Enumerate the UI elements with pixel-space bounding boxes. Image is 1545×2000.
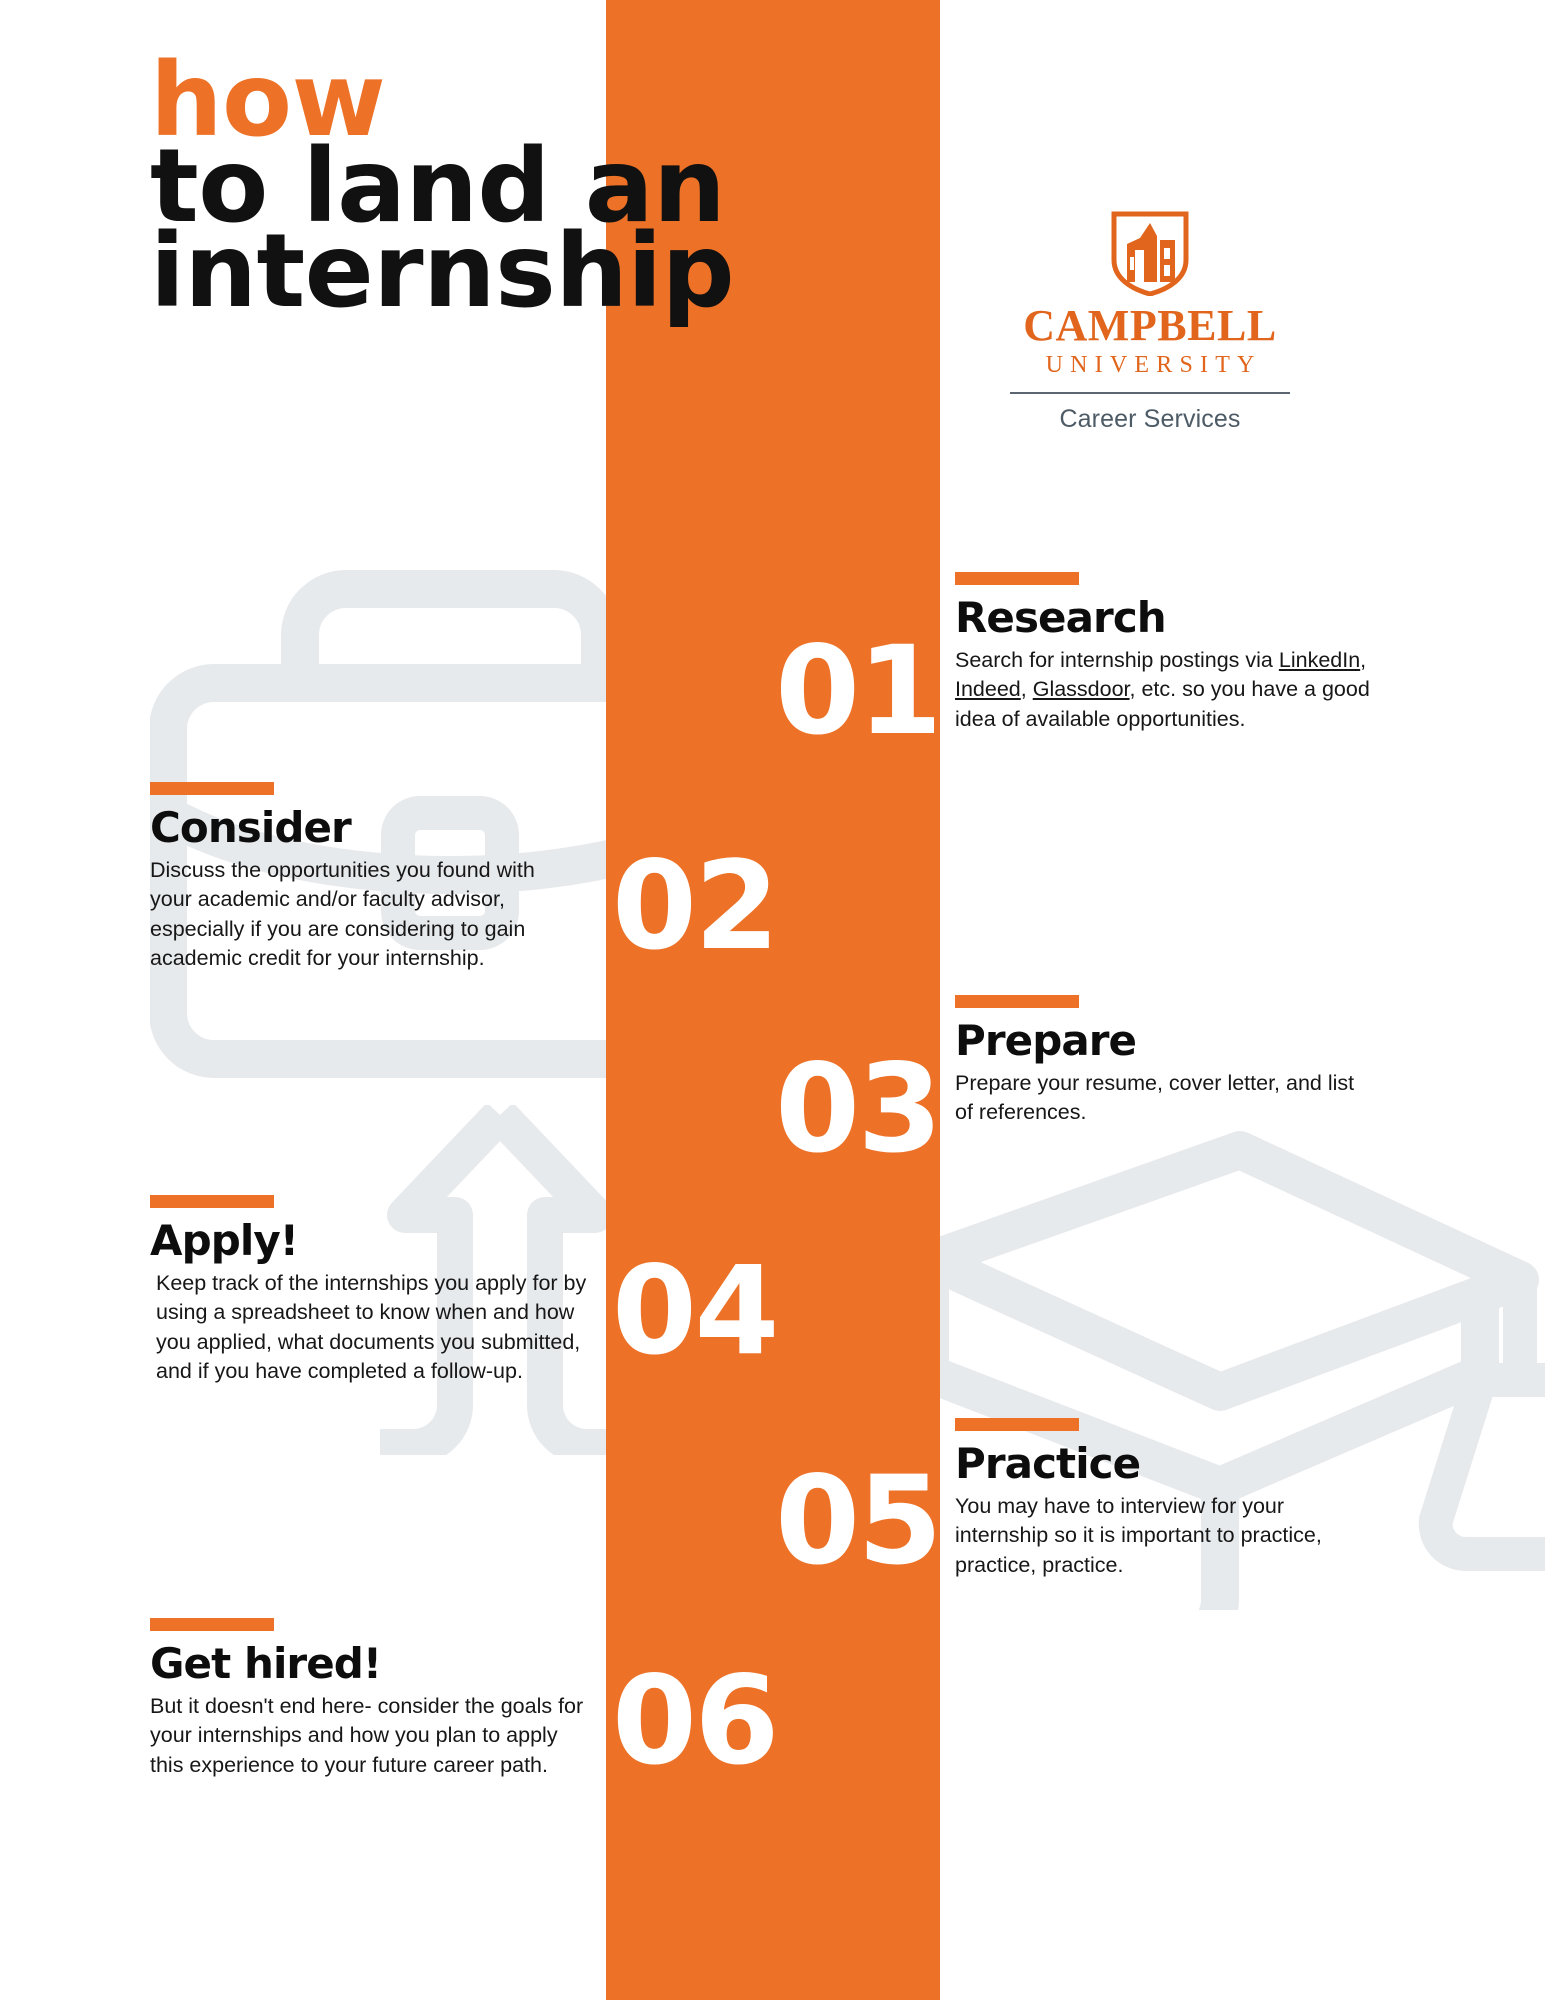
step-accent-rule-05 bbox=[955, 1418, 1079, 1431]
step-accent-rule-03 bbox=[955, 995, 1079, 1008]
step-body-research: Search for internship postings via Linke… bbox=[955, 646, 1375, 734]
step-number-03: 03 bbox=[620, 1048, 940, 1170]
step-body-get-hired: But it doesn't end here- consider the go… bbox=[150, 1692, 590, 1780]
step-title-research: Research bbox=[955, 596, 1375, 640]
step-body-prepare: Prepare your resume, cover letter, and l… bbox=[955, 1069, 1367, 1128]
page-title: how to land an internship bbox=[150, 58, 734, 315]
step-body-consider: Discuss the opportunities you found with… bbox=[150, 856, 582, 974]
step-card-research: Research Search for internship postings … bbox=[955, 572, 1375, 734]
step-title-apply: Apply! bbox=[150, 1219, 592, 1263]
link-glassdoor[interactable]: Glassdoor bbox=[1033, 677, 1130, 701]
title-line-internship: internship bbox=[150, 229, 734, 315]
link-linkedin[interactable]: LinkedIn bbox=[1279, 648, 1360, 672]
step-number-02: 02 bbox=[612, 845, 932, 967]
step-body-apply: Keep track of the internships you apply … bbox=[150, 1269, 592, 1387]
infographic-poster: how to land an internship CAMPBELL UNIVE… bbox=[0, 0, 1545, 2000]
step-title-practice: Practice bbox=[955, 1442, 1375, 1486]
logo-campbell-text: CAMPBELL bbox=[1000, 304, 1300, 348]
step-card-practice: Practice You may have to interview for y… bbox=[955, 1418, 1375, 1580]
step-card-apply: Apply! Keep track of the internships you… bbox=[150, 1195, 592, 1386]
campbell-shield-icon bbox=[1111, 210, 1189, 296]
step-body-prefix-research: Search for internship postings via bbox=[955, 648, 1279, 672]
logo-university-text: UNIVERSITY bbox=[1000, 352, 1300, 379]
logo-divider bbox=[1010, 392, 1290, 394]
step-title-consider: Consider bbox=[150, 806, 582, 850]
step-accent-rule-02 bbox=[150, 782, 274, 795]
step-card-prepare: Prepare Prepare your resume, cover lette… bbox=[955, 995, 1367, 1128]
step-accent-rule-04 bbox=[150, 1195, 274, 1208]
step-card-get-hired: Get hired! But it doesn't end here- cons… bbox=[150, 1618, 590, 1780]
step-title-get-hired: Get hired! bbox=[150, 1642, 590, 1686]
link-indeed[interactable]: Indeed bbox=[955, 677, 1021, 701]
step-number-06: 06 bbox=[612, 1660, 932, 1782]
step-accent-rule-01 bbox=[955, 572, 1079, 585]
step-number-05: 05 bbox=[620, 1460, 940, 1582]
step-title-prepare: Prepare bbox=[955, 1019, 1367, 1063]
step-accent-rule-06 bbox=[150, 1618, 274, 1631]
step-body-practice: You may have to interview for your inter… bbox=[955, 1492, 1375, 1580]
step-card-consider: Consider Discuss the opportunities you f… bbox=[150, 782, 582, 973]
step-number-04: 04 bbox=[612, 1250, 932, 1372]
logo-career-services: Career Services bbox=[1000, 405, 1300, 434]
step-number-01: 01 bbox=[620, 630, 940, 752]
campbell-university-logo: CAMPBELL UNIVERSITY Career Services bbox=[1000, 210, 1300, 434]
